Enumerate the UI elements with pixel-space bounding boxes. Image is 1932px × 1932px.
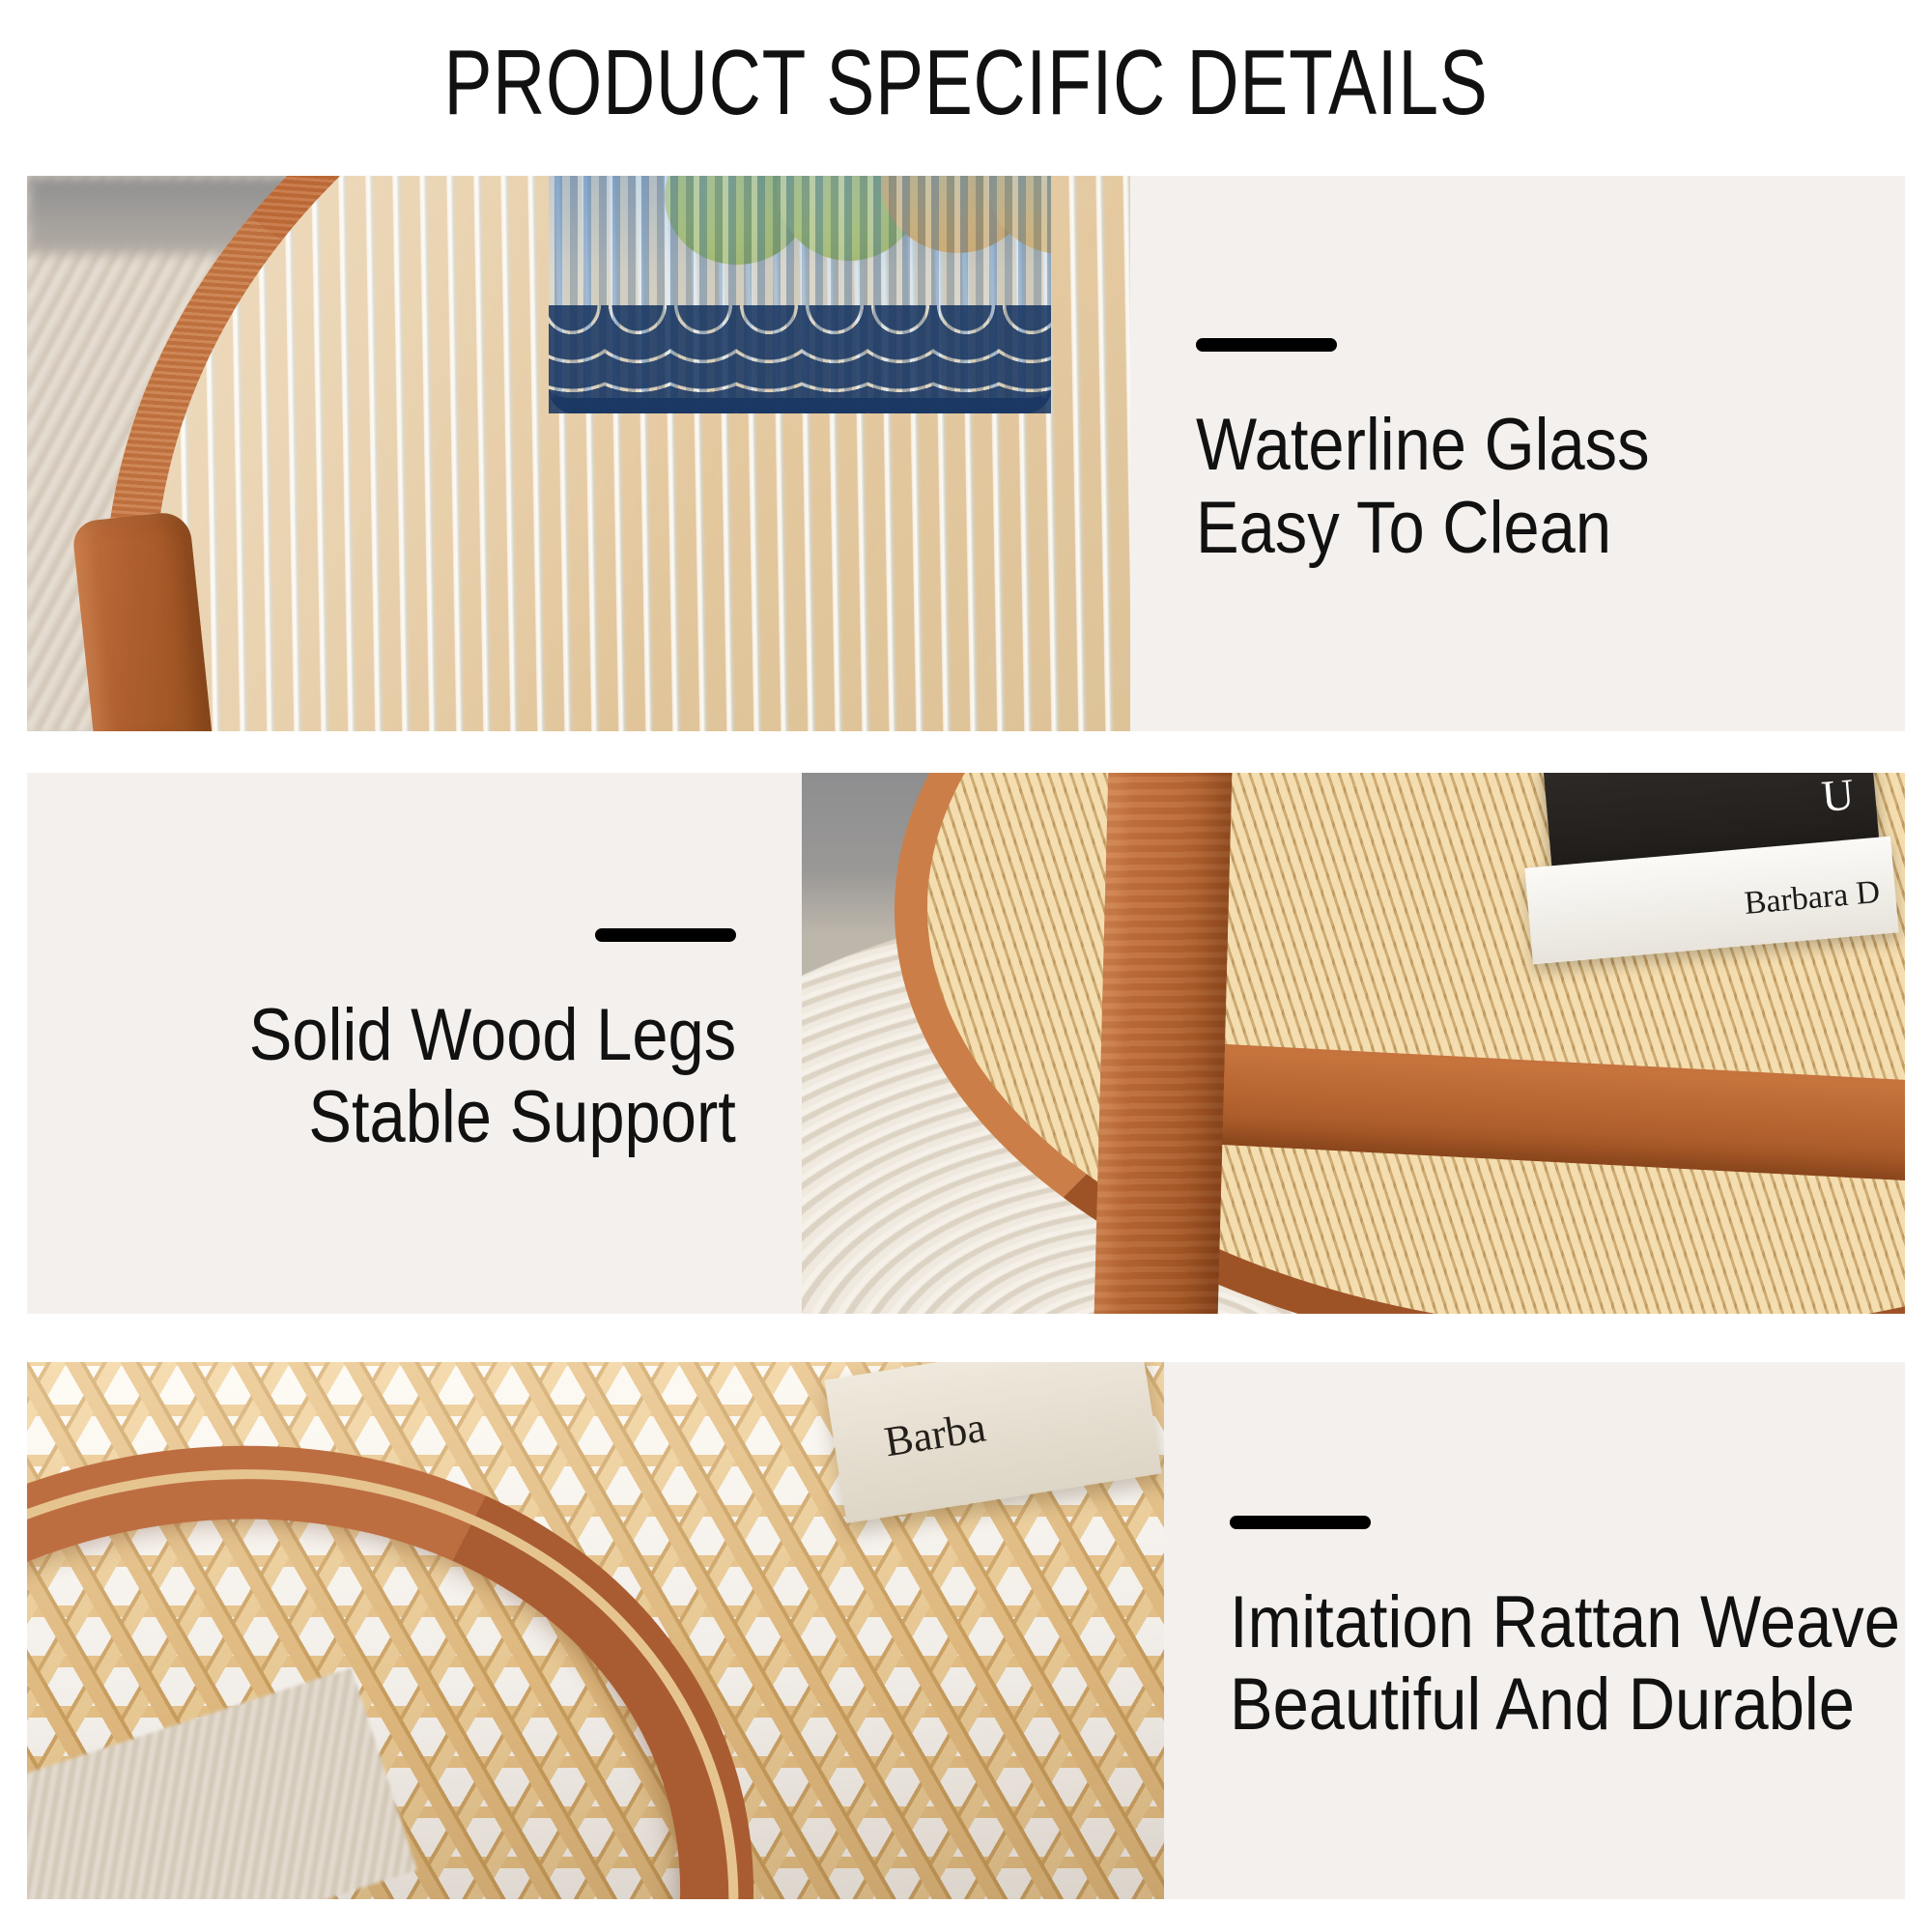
- black-book-title: U: [1820, 773, 1857, 822]
- caption-waterline-glass: Waterline Glass Easy To Clean: [1130, 176, 1905, 731]
- caption-imitation-rattan-weave: Imitation Rattan Weave Beautiful And Dur…: [1164, 1362, 1905, 1899]
- white-book-author: Barbara D: [1743, 874, 1881, 923]
- dash-marker-icon: [595, 928, 736, 942]
- solid-wood-leg: [1094, 773, 1233, 1314]
- dash-marker-icon: [1230, 1516, 1371, 1529]
- page-title: PRODUCT SPECIFIC DETAILS: [213, 37, 1719, 129]
- dash-marker-icon: [1196, 338, 1337, 352]
- detail-panel-imitation-rattan-weave: Barba Imitation Rattan Weave Beautiful A…: [27, 1362, 1905, 1899]
- blue-glass-fruit-bowl: [549, 176, 1051, 413]
- wood-leg: [71, 510, 213, 731]
- caption-line-1: Waterline Glass: [1196, 404, 1650, 486]
- cream-book-author: Barba: [881, 1403, 989, 1467]
- caption-solid-wood-legs: Solid Wood Legs Stable Support: [27, 773, 802, 1314]
- caption-line-2: Beautiful And Durable: [1230, 1663, 1855, 1746]
- detail-panel-solid-wood-legs: Solid Wood Legs Stable Support U Barbara…: [27, 773, 1905, 1314]
- caption-line-1: Imitation Rattan Weave: [1230, 1581, 1900, 1663]
- photo-waterline-glass: [27, 176, 1130, 731]
- caption-line-2: Easy To Clean: [1196, 487, 1611, 569]
- photo-imitation-rattan-weave: Barba: [27, 1362, 1164, 1899]
- detail-panel-waterline-glass: Waterline Glass Easy To Clean: [27, 176, 1905, 731]
- caption-line-1: Solid Wood Legs: [249, 994, 736, 1076]
- bowl-scalloped-edge: [549, 305, 1051, 413]
- caption-line-2: Stable Support: [309, 1076, 736, 1158]
- product-detail-infographic: PRODUCT SPECIFIC DETAILS: [0, 0, 1932, 1932]
- photo-solid-wood-legs: U Barbara D: [802, 773, 1905, 1314]
